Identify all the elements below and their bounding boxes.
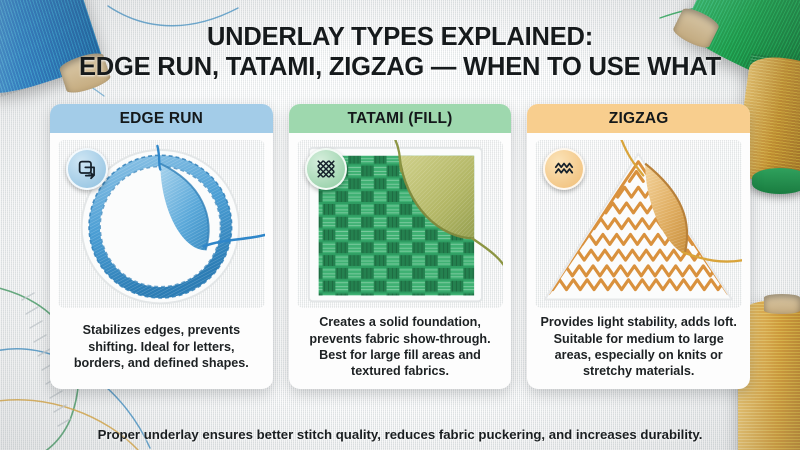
edge-run-icon-badge: [66, 148, 108, 190]
card-header-tatami: TATAMI (FILL): [289, 104, 512, 133]
zigzag-wave-icon: [553, 158, 575, 180]
card-header-zigzag: ZIGZAG: [527, 104, 750, 133]
edge-run-outline-arrow-icon: [77, 159, 98, 180]
card-title-edge-run: EDGE RUN: [120, 110, 203, 128]
card-zigzag[interactable]: ZIGZAG: [527, 104, 750, 389]
card-tatami-fill[interactable]: TATAMI (FILL): [289, 104, 512, 389]
card-title-tatami: TATAMI (FILL): [347, 110, 452, 128]
card-description-zigzag: Provides light stability, adds loft. Sui…: [527, 308, 750, 389]
card-description-tatami: Creates a solid foundation, prevents fab…: [289, 308, 512, 389]
sample-image-edge-run: [58, 140, 265, 308]
underlay-type-cards: EDGE RUN: [50, 104, 750, 389]
footer-note: Proper underlay ensures better stitch qu…: [0, 427, 800, 442]
title-line-1: UNDERLAY TYPES EXPLAINED:: [207, 23, 593, 51]
page-title: UNDERLAY TYPES EXPLAINED: EDGE RUN, TATA…: [0, 22, 800, 82]
card-title-zigzag: ZIGZAG: [609, 110, 669, 128]
sample-image-zigzag: [535, 140, 742, 308]
sample-image-tatami: [297, 140, 504, 308]
card-header-edge-run: EDGE RUN: [50, 104, 273, 133]
title-line-2: EDGE RUN, TATAMI, ZIGZAG — WHEN TO USE W…: [0, 52, 800, 82]
card-description-edge-run: Stabilizes edges, prevents shifting. Ide…: [50, 308, 273, 389]
card-edge-run[interactable]: EDGE RUN: [50, 104, 273, 389]
tatami-crosshatch-icon: [315, 158, 337, 180]
tatami-icon-badge: [305, 148, 347, 190]
